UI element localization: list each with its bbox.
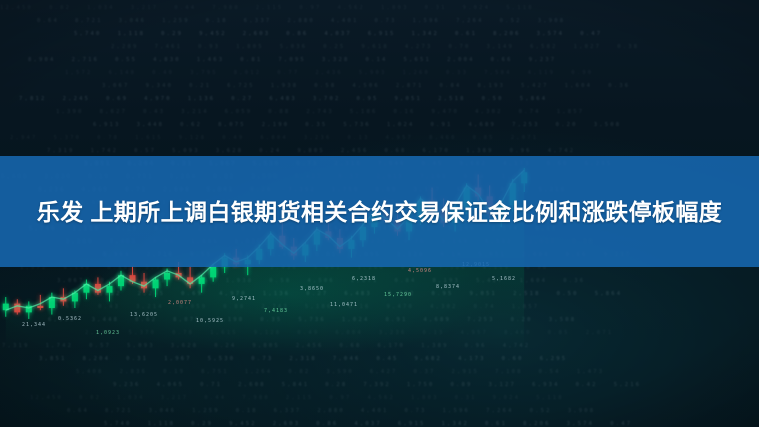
ticker-row: 8,9042,7160.554,8301,4630.817,0953,3280.… bbox=[0, 58, 759, 64]
page-title: 乐发 上期所上调白银期货相关合约交易保证金比例和涨跌停板幅度 bbox=[37, 192, 722, 232]
ticker-row: 5,4082,8360.198,7511,2640.823,5906,4270.… bbox=[0, 370, 759, 376]
ticker-row: 5,7401,1180.299,4522,6030.864,0376,9151,… bbox=[0, 422, 759, 427]
ticker-row: 12,4500.821,0343,2170.447,9802,1150.974,… bbox=[0, 6, 759, 12]
ticker-row: 2,2897,4610.931,8055,0360.259,6184,2730.… bbox=[0, 45, 759, 51]
ticker-row: 1,5726,1480.403,7958,0120.772,4365,9031,… bbox=[0, 71, 759, 77]
ticker-row: 9,2364,0650.712,6085,8410.287,3921,7500.… bbox=[0, 383, 759, 389]
ticker-row: 6,9133,4480.628,0752,1900.355,7361,0240.… bbox=[0, 123, 759, 129]
ticker-row: 3,8518,2040.311,9675,5300.732,3187,0460.… bbox=[0, 357, 759, 363]
ticker-row: 12,4500.821,0343,2170.447,9802,1150.974,… bbox=[0, 396, 759, 402]
candle bbox=[95, 277, 101, 295]
ticker-row: 1,3908,6270.433,2146,0590.882,7435,1860.… bbox=[0, 110, 759, 116]
ticker-row: 0.648,7213,0461,2590.186,3372,8804,4010.… bbox=[0, 19, 759, 25]
ticker-row: 7,8122,2450.694,9701,1360.276,4833,7020.… bbox=[0, 97, 759, 103]
ticker-row: 3,0679,3400.216,7251,9380.584,5062,8710.… bbox=[0, 84, 759, 90]
ticker-row: 0.648,7213,0461,2590.186,3372,8804,4010.… bbox=[0, 409, 759, 415]
headline-banner: 乐发 上期所上调白银期货相关合约交易保证金比例和涨跌停板幅度 bbox=[0, 156, 759, 267]
screenshot-root: 12,4500.821,0343,2170.447,9802,1150.974,… bbox=[0, 0, 759, 427]
ticker-row: 5,7401,1180.299,4522,6030.864,0376,9151,… bbox=[0, 32, 759, 38]
ticker-row: 2,9475,3700.781,6159,1280.496,8043,2360.… bbox=[0, 136, 759, 142]
